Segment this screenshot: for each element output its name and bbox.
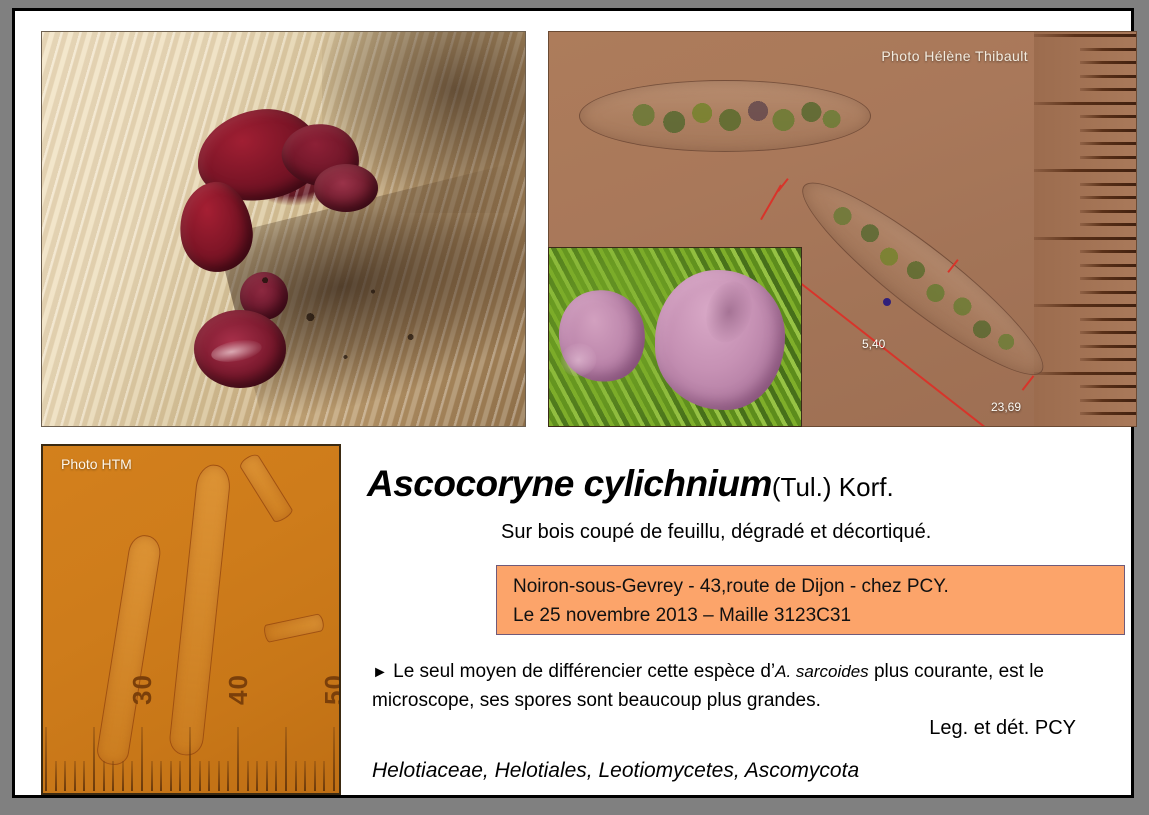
measure-point-marker <box>883 298 891 306</box>
ascus-horizontal <box>579 80 871 152</box>
ruler-tick <box>1080 129 1136 132</box>
scale-tick <box>122 761 124 791</box>
ruler-tick <box>1080 358 1136 361</box>
scale-tick <box>208 761 210 791</box>
scale-tick <box>55 761 57 791</box>
species-title: Ascocoryne cylichnium(Tul.) Korf. <box>367 463 894 505</box>
ruler-tick <box>1034 102 1136 105</box>
photo-credit-thibault: Photo Hélène Thibault <box>881 48 1028 64</box>
photo-red-cups-on-wood <box>41 31 526 427</box>
ascus-elongate <box>168 463 232 757</box>
scale-tick <box>103 761 105 791</box>
photo-asci-micrograph: Photo HTM 304050 <box>41 444 341 795</box>
ruler-tick <box>1080 88 1136 91</box>
scale-tick <box>333 727 335 791</box>
ruler-tick <box>1080 385 1136 388</box>
scale-tick <box>218 761 220 791</box>
ruler-tick <box>1080 426 1136 428</box>
scale-number-label: 50 <box>319 674 341 705</box>
scale-tick <box>93 727 95 791</box>
ruler-tick <box>1080 48 1136 51</box>
scale-tick <box>256 761 258 791</box>
species-binomial: Ascocoryne cylichnium <box>367 463 772 504</box>
scale-tick <box>45 727 47 791</box>
ruler-tick <box>1080 61 1136 64</box>
differentiation-note: ► Le seul moyen de différencier cette es… <box>372 657 1132 716</box>
photo-credit-htm: Photo HTM <box>61 456 132 472</box>
poster-page: 5,40 23,69 Photo Hélène Thibault Photo H… <box>0 0 1149 815</box>
scale-tick <box>304 761 306 791</box>
ruler-tick <box>1080 412 1136 415</box>
scale-number-label: 30 <box>127 674 158 705</box>
scale-number-label: 40 <box>223 674 254 705</box>
ruler-tick <box>1080 156 1136 159</box>
measurement-length-label: 23,69 <box>991 400 1021 414</box>
spores-in-ascus <box>804 180 1041 378</box>
scale-tick <box>170 761 172 791</box>
scale-tick <box>179 761 181 791</box>
scale-tick <box>131 761 133 791</box>
ruler-tick <box>1034 237 1136 240</box>
scale-tick <box>189 727 191 791</box>
ruler-tick <box>1080 277 1136 280</box>
ruler-tick <box>1080 142 1136 145</box>
locality-line-2: Le 25 novembre 2013 – Maille 3123C31 <box>513 602 1124 631</box>
ruler-tick <box>1080 223 1136 226</box>
scale-tick <box>160 761 162 791</box>
scale-tick <box>247 761 249 791</box>
habitat-description: Sur bois coupé de feuillu, dégradé et dé… <box>501 521 931 544</box>
ruler-tick <box>1080 196 1136 199</box>
apothecium-pink-large <box>655 270 785 410</box>
taxonomy-classification: Helotiaceae, Helotiales, Leotiomycetes, … <box>372 759 859 783</box>
species-authority: (Tul.) Korf. <box>772 472 894 502</box>
ruler-tick <box>1080 210 1136 213</box>
scale-tick <box>237 727 239 791</box>
ruler-tick <box>1080 115 1136 118</box>
measurement-width-label: 5,40 <box>862 337 885 351</box>
ruler-tick <box>1080 183 1136 186</box>
ruler-tick <box>1080 345 1136 348</box>
ruler-tick <box>1080 318 1136 321</box>
scale-tick <box>141 727 143 791</box>
ruler-tick <box>1034 372 1136 375</box>
ruler-tick <box>1034 169 1136 172</box>
micrometer-scale-horizontal <box>43 719 339 793</box>
note-related-species: A. sarcoides <box>775 662 869 681</box>
scale-tick <box>151 761 153 791</box>
ruler-tick <box>1080 399 1136 402</box>
scale-tick <box>112 761 114 791</box>
scale-tick <box>64 761 66 791</box>
scale-tick <box>83 761 85 791</box>
apothecium-pink-small <box>550 282 653 390</box>
ascus-elongate <box>263 613 325 643</box>
ruler-tick <box>1080 291 1136 294</box>
scale-tick <box>295 761 297 791</box>
ruler-tick <box>1034 304 1136 307</box>
scale-tick <box>199 761 201 791</box>
scale-tick <box>285 727 287 791</box>
poster-sheet: 5,40 23,69 Photo Hélène Thibault Photo H… <box>12 8 1134 798</box>
ruler-tick <box>1080 75 1136 78</box>
scale-tick <box>74 761 76 791</box>
bullet-triangle-icon: ► <box>372 664 388 681</box>
micrometer-ruler-vertical <box>1034 32 1136 426</box>
locality-callout-box: Noiron-sous-Gevrey - 43,route de Dijon -… <box>496 565 1125 635</box>
scale-tick <box>323 761 325 791</box>
ruler-tick <box>1034 34 1136 37</box>
scale-tick <box>266 761 268 791</box>
ruler-tick <box>1080 264 1136 267</box>
ruler-tick <box>1080 331 1136 334</box>
scale-tick <box>314 761 316 791</box>
scale-tick <box>227 761 229 791</box>
measure-tick <box>1022 375 1035 390</box>
ascus-diagonal <box>785 161 1061 396</box>
spores-in-ascus <box>598 91 852 141</box>
apothecium-cup <box>314 164 378 212</box>
ascus-elongate <box>238 452 295 525</box>
ruler-tick <box>1080 250 1136 253</box>
note-text-part1: Le seul moyen de différencier cette espè… <box>393 661 775 682</box>
wood-debris <box>235 249 486 391</box>
scale-tick <box>275 761 277 791</box>
locality-line-1: Noiron-sous-Gevrey - 43,route de Dijon -… <box>513 573 1124 602</box>
collector-determiner: Leg. et dét. PCY <box>929 717 1076 740</box>
photo-pink-cups-on-moss <box>548 247 802 427</box>
